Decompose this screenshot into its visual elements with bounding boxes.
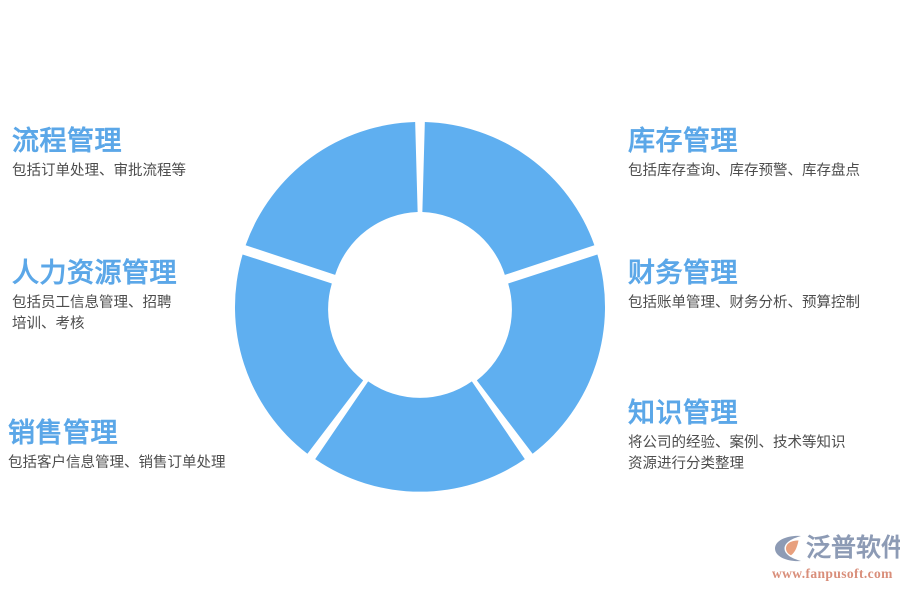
- fanpu-swoosh-icon: [772, 533, 803, 564]
- callout-knowledge-desc: 将公司的经验、案例、技术等知识 资源进行分类整理: [628, 433, 846, 474]
- callout-inventory-desc: 包括库存查询、库存预警、库存盘点: [628, 161, 860, 182]
- donut-chart: [232, 119, 608, 495]
- donut-segment-hr: [246, 122, 418, 275]
- donut-segments: [235, 122, 605, 492]
- brand-logo[interactable]: 泛普软件 www.fanpusoft.com: [772, 531, 892, 587]
- callout-hr[interactable]: 人力资源管理 包括员工信息管理、招聘 培训、考核: [12, 258, 177, 334]
- callout-hr-title: 人力资源管理: [12, 258, 177, 288]
- callout-process-title: 流程管理: [12, 126, 186, 156]
- callout-finance-title: 财务管理: [628, 258, 860, 288]
- logo-row: 泛普软件: [772, 531, 892, 565]
- callout-sales-desc: 包括客户信息管理、销售订单处理: [8, 453, 226, 474]
- callout-hr-desc: 包括员工信息管理、招聘 培训、考核: [12, 293, 177, 334]
- donut-segment-inventory: [422, 122, 594, 275]
- logo-wordmark: 泛普软件: [806, 536, 900, 561]
- callout-process-desc: 包括订单处理、审批流程等: [12, 161, 186, 182]
- callout-finance-desc: 包括账单管理、财务分析、预算控制: [628, 293, 860, 314]
- infographic-canvas: 流程管理 包括订单处理、审批流程等 人力资源管理 包括员工信息管理、招聘 培训、…: [0, 0, 900, 600]
- callout-knowledge[interactable]: 知识管理 将公司的经验、案例、技术等知识 资源进行分类整理: [628, 398, 846, 474]
- callout-sales-title: 销售管理: [8, 418, 226, 448]
- callout-finance[interactable]: 财务管理 包括账单管理、财务分析、预算控制: [628, 258, 860, 314]
- callout-sales[interactable]: 销售管理 包括客户信息管理、销售订单处理: [8, 418, 226, 474]
- callout-inventory-title: 库存管理: [628, 126, 860, 156]
- callout-knowledge-title: 知识管理: [628, 398, 846, 428]
- callout-process[interactable]: 流程管理 包括订单处理、审批流程等: [12, 126, 186, 182]
- callout-inventory[interactable]: 库存管理 包括库存查询、库存预警、库存盘点: [628, 126, 860, 182]
- logo-website-url: www.fanpusoft.com: [772, 566, 892, 582]
